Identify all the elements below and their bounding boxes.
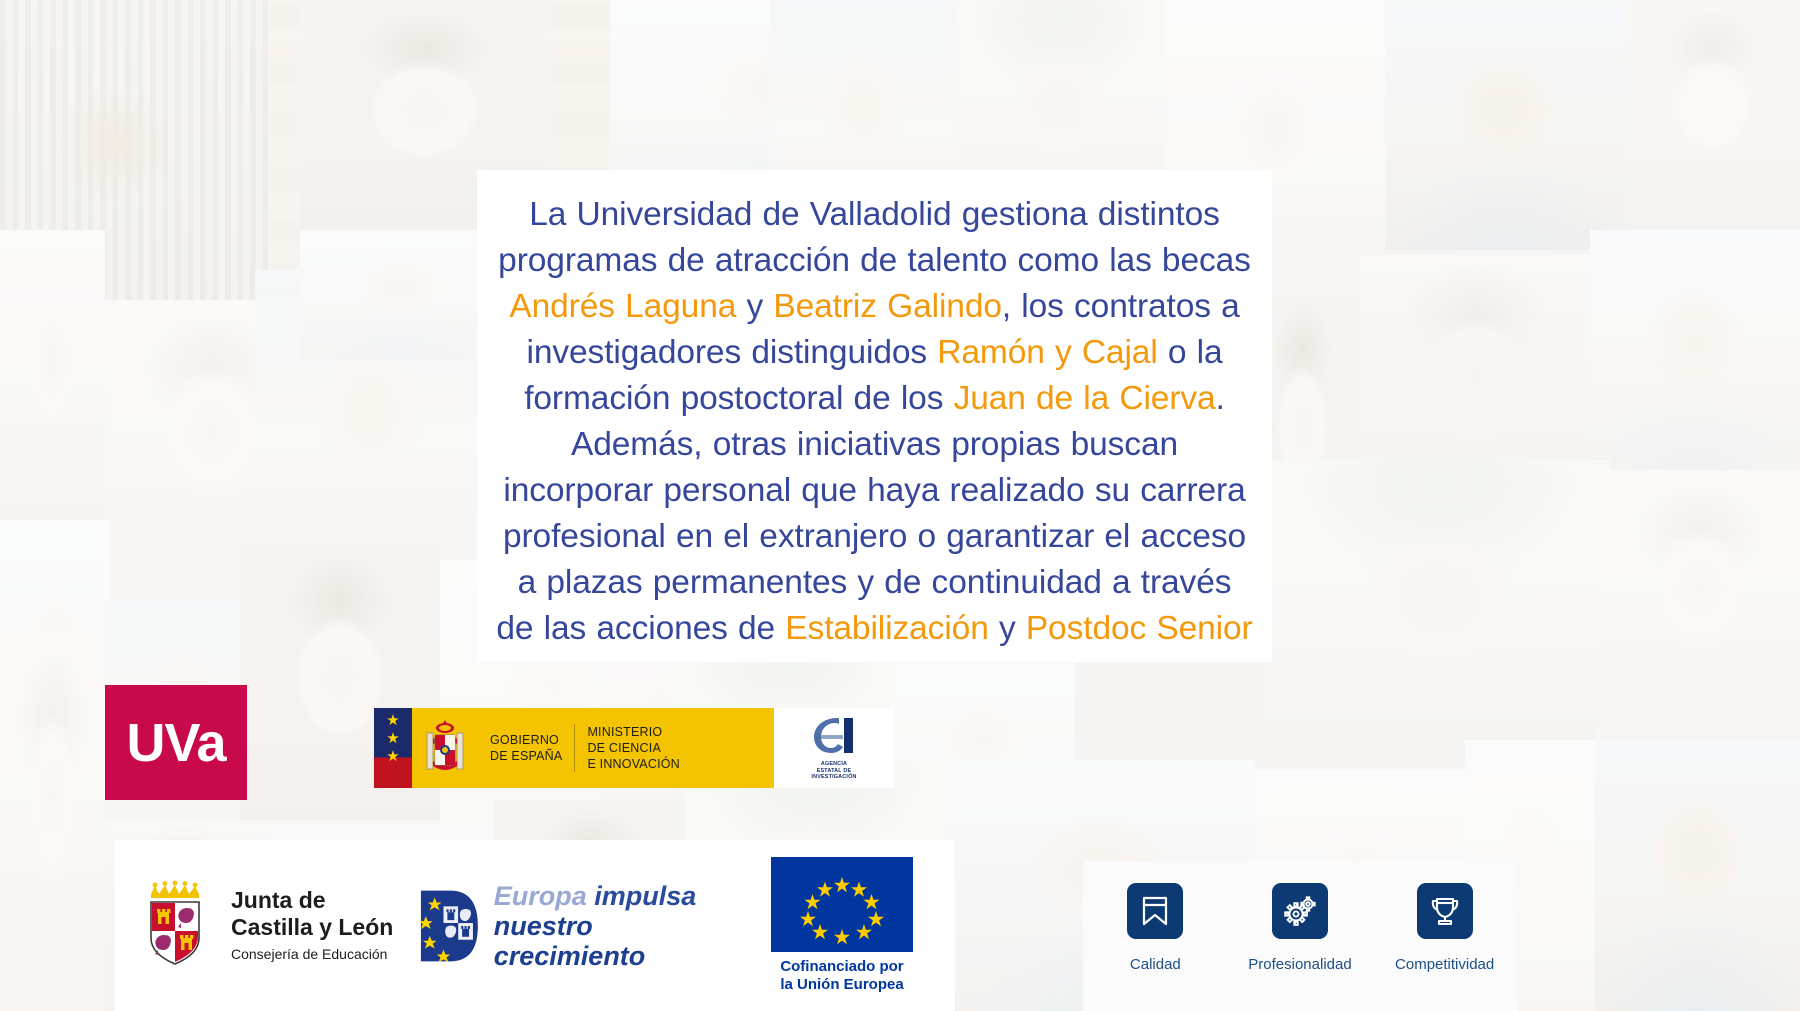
message-span: . Además, otras iniciativas propias busc… (496, 380, 1246, 647)
message-span: y (736, 288, 773, 325)
message-paragraph: La Universidad de Valladolid gestiona di… (495, 192, 1255, 652)
portrait-tile (0, 630, 105, 1011)
junta-castilla-leon-logo: Junta de Castilla y León Consejería de E… (115, 878, 417, 974)
calidad-tile[interactable] (1127, 883, 1183, 939)
value-label-profesionalidad: Profesionalidad (1248, 956, 1351, 973)
europa-word-impulsa: impulsa (594, 881, 696, 911)
europa-line1: Europa impulsa (494, 881, 747, 911)
value-item-competitividad[interactable]: Competitividad (1380, 883, 1510, 973)
portrait-tile (1600, 470, 1800, 740)
aei-logo: AGENCIA ESTATAL DE INVESTIGACIÓN (774, 708, 894, 788)
competitividad-tile[interactable] (1417, 883, 1473, 939)
castilla-leon-coat-of-arms-icon (141, 878, 219, 974)
ministerio-banner-yellow: ★ ★ ★ (374, 708, 774, 788)
portrait-tile (0, 230, 105, 520)
portrait-tile (1270, 460, 1610, 760)
message-highlight: Juan de la Cierva (954, 380, 1216, 417)
europa-word-europa: Europa (494, 881, 587, 911)
message-highlight: Estabilización (785, 610, 988, 647)
bookmark-icon (1140, 895, 1170, 927)
gobierno-label: GOBIERNO DE ESPAÑA (478, 732, 574, 764)
star-icon: ★ (386, 713, 399, 728)
portrait-tile (1590, 230, 1800, 490)
aei-line3: INVESTIGACIÓN (811, 774, 856, 780)
message-highlight: Andrés Laguna (509, 288, 736, 325)
aei-mark-icon (807, 715, 861, 759)
value-item-calidad[interactable]: Calidad (1090, 883, 1220, 973)
uva-logo-text: UVa (126, 712, 225, 774)
funding-logos-bar: Junta de Castilla y León Consejería de E… (115, 840, 955, 1011)
portrait-tile (1385, 0, 1625, 250)
europa-impulsa-logo: Europa impulsa nuestro crecimiento (417, 881, 747, 971)
ministerio-labels: GOBIERNO DE ESPAÑA MINISTERIO DE CIENCIA… (478, 708, 774, 788)
value-label-calidad: Calidad (1130, 956, 1181, 973)
eu-flag-icon (771, 857, 913, 952)
message-span: La Universidad de Valladolid gestiona di… (498, 196, 1251, 279)
message-panel: La Universidad de Valladolid gestiona di… (477, 170, 1272, 662)
eu-cofinancing-logo: Cofinanciado por la Unión Europea (747, 857, 937, 994)
uva-logo: UVa (105, 685, 247, 800)
eu-caption-line1: Cofinanciado por (780, 958, 903, 976)
eu-cofinancing-caption: Cofinanciado por la Unión Europea (780, 958, 903, 994)
message-highlight: Beatriz Galindo (773, 288, 1002, 325)
europa-line2: nuestro crecimiento (494, 911, 747, 971)
values-panel: Calidad (1083, 861, 1517, 1011)
spain-coat-of-arms-icon (412, 708, 478, 788)
ministerio-label: MINISTERIO DE CIENCIA E INNOVACIÓN (574, 724, 691, 772)
jcyl-line1: Junta de (231, 887, 393, 914)
portrait-tile (1595, 730, 1800, 1011)
profesionalidad-tile[interactable] (1272, 883, 1328, 939)
jcyl-line2: Castilla y León (231, 914, 393, 941)
trophy-icon (1429, 895, 1461, 927)
portrait-tile (1625, 0, 1800, 230)
gobierno-espana-banner: ★ ★ ★ (374, 708, 894, 788)
poster-canvas: La Universidad de Valladolid gestiona di… (0, 0, 1800, 1011)
star-icon: ★ (386, 731, 399, 746)
portrait-tile (240, 540, 440, 840)
eu-caption-line2: la Unión Europea (780, 976, 903, 994)
message-highlight: Ramón y Cajal (937, 334, 1157, 371)
message-highlight: Postdoc Senior (1026, 610, 1253, 647)
value-item-profesionalidad[interactable]: Profesionalidad (1235, 883, 1365, 973)
spain-flag-strip: ★ ★ ★ (374, 708, 412, 788)
junta-castilla-leon-text: Junta de Castilla y León Consejería de E… (231, 887, 393, 964)
jcyl-line3: Consejería de Educación (231, 944, 393, 964)
europa-impulsa-text: Europa impulsa nuestro crecimiento (494, 881, 747, 971)
portrait-tile (300, 230, 500, 360)
europa-impulsa-shield-icon (417, 884, 484, 968)
message-span: y (989, 610, 1026, 647)
star-icon: ★ (386, 749, 399, 764)
gears-icon (1283, 895, 1317, 927)
value-label-competitividad: Competitividad (1395, 956, 1494, 973)
